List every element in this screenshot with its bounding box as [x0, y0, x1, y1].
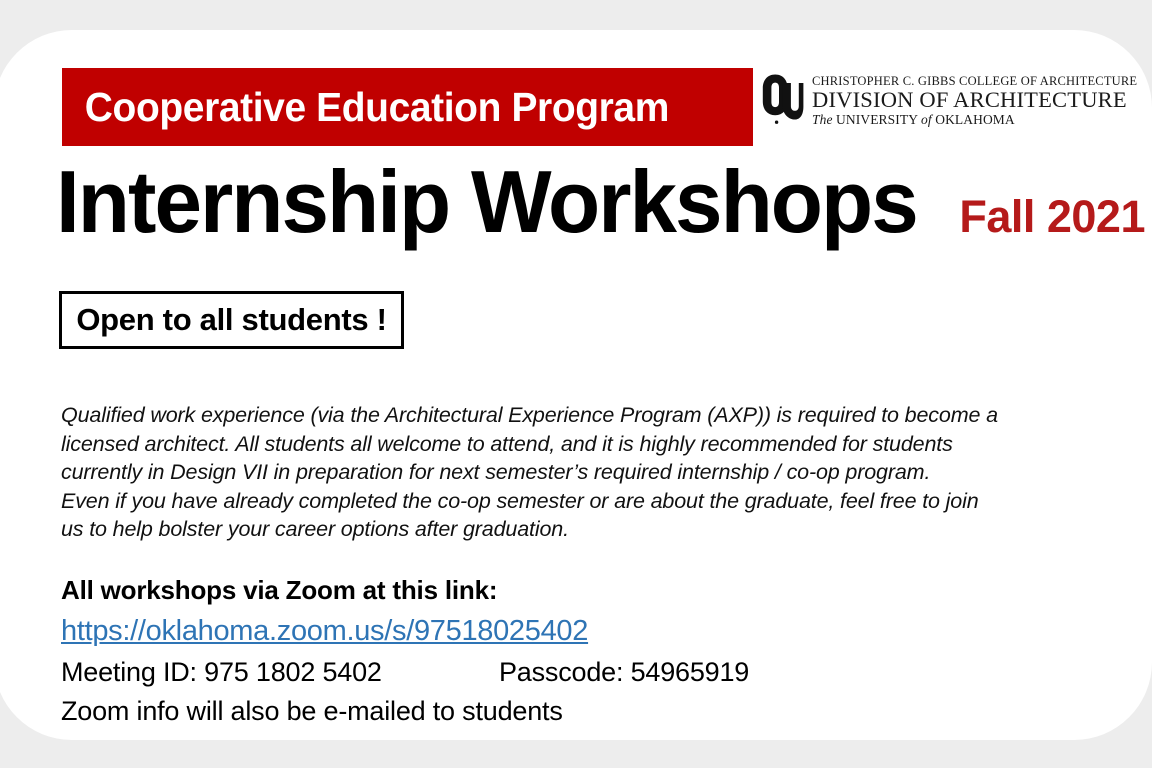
body-line: Qualified work experience (via the Archi…: [61, 401, 1071, 430]
header-row: Cooperative Education Program CHRISTOPHE…: [0, 30, 1152, 150]
ou-interlocking-monogram-icon: [762, 74, 804, 128]
logo-oklahoma-word: OKLAHOMA: [935, 112, 1015, 127]
zoom-info-block: All workshops via Zoom at this link: htt…: [61, 575, 1061, 727]
open-to-all-students-label: Open to all students !: [76, 302, 386, 338]
meeting-id-label: Meeting ID: 975 1802 5402: [61, 657, 499, 688]
logo-of-word: of: [921, 112, 932, 127]
passcode-label: Passcode: 54965919: [499, 657, 749, 688]
body-line: us to help bolster your career options a…: [61, 515, 1071, 544]
logo-university-line: The UNIVERSITY of OKLAHOMA: [812, 113, 1137, 127]
logo-university-word: UNIVERSITY: [836, 112, 918, 127]
open-to-all-students-box: Open to all students !: [59, 291, 404, 349]
zoom-email-note: Zoom info will also be e-mailed to stude…: [61, 696, 1061, 727]
body-line: Even if you have already completed the c…: [61, 487, 1071, 516]
logo-the-word: The: [812, 112, 833, 127]
logo-college-line: CHRISTOPHER C. GIBBS COLLEGE OF ARCHITEC…: [812, 75, 1137, 88]
ou-logo-text: CHRISTOPHER C. GIBBS COLLEGE OF ARCHITEC…: [812, 75, 1137, 127]
body-line: licensed architect. All students all wel…: [61, 430, 1071, 459]
page-title: Internship Workshops: [56, 158, 917, 246]
program-banner-title: Cooperative Education Program: [62, 84, 669, 131]
body-paragraph: Qualified work experience (via the Archi…: [61, 401, 1071, 544]
zoom-link-heading: All workshops via Zoom at this link:: [61, 575, 1061, 606]
title-term-badge: Fall 2021: [959, 191, 1145, 243]
ou-logo: CHRISTOPHER C. GIBBS COLLEGE OF ARCHITEC…: [762, 74, 1137, 128]
logo-division-line: DIVISION OF ARCHITECTURE: [812, 89, 1137, 112]
program-banner: Cooperative Education Program: [62, 68, 753, 146]
meeting-credentials-row: Meeting ID: 975 1802 5402 Passcode: 5496…: [61, 657, 1061, 688]
body-line: currently in Design VII in preparation f…: [61, 458, 1071, 487]
zoom-meeting-link[interactable]: https://oklahoma.zoom.us/s/97518025402: [61, 615, 588, 648]
title-row: Internship Workshops Fall 2021: [56, 158, 1145, 246]
flyer-card: Cooperative Education Program CHRISTOPHE…: [0, 30, 1152, 740]
